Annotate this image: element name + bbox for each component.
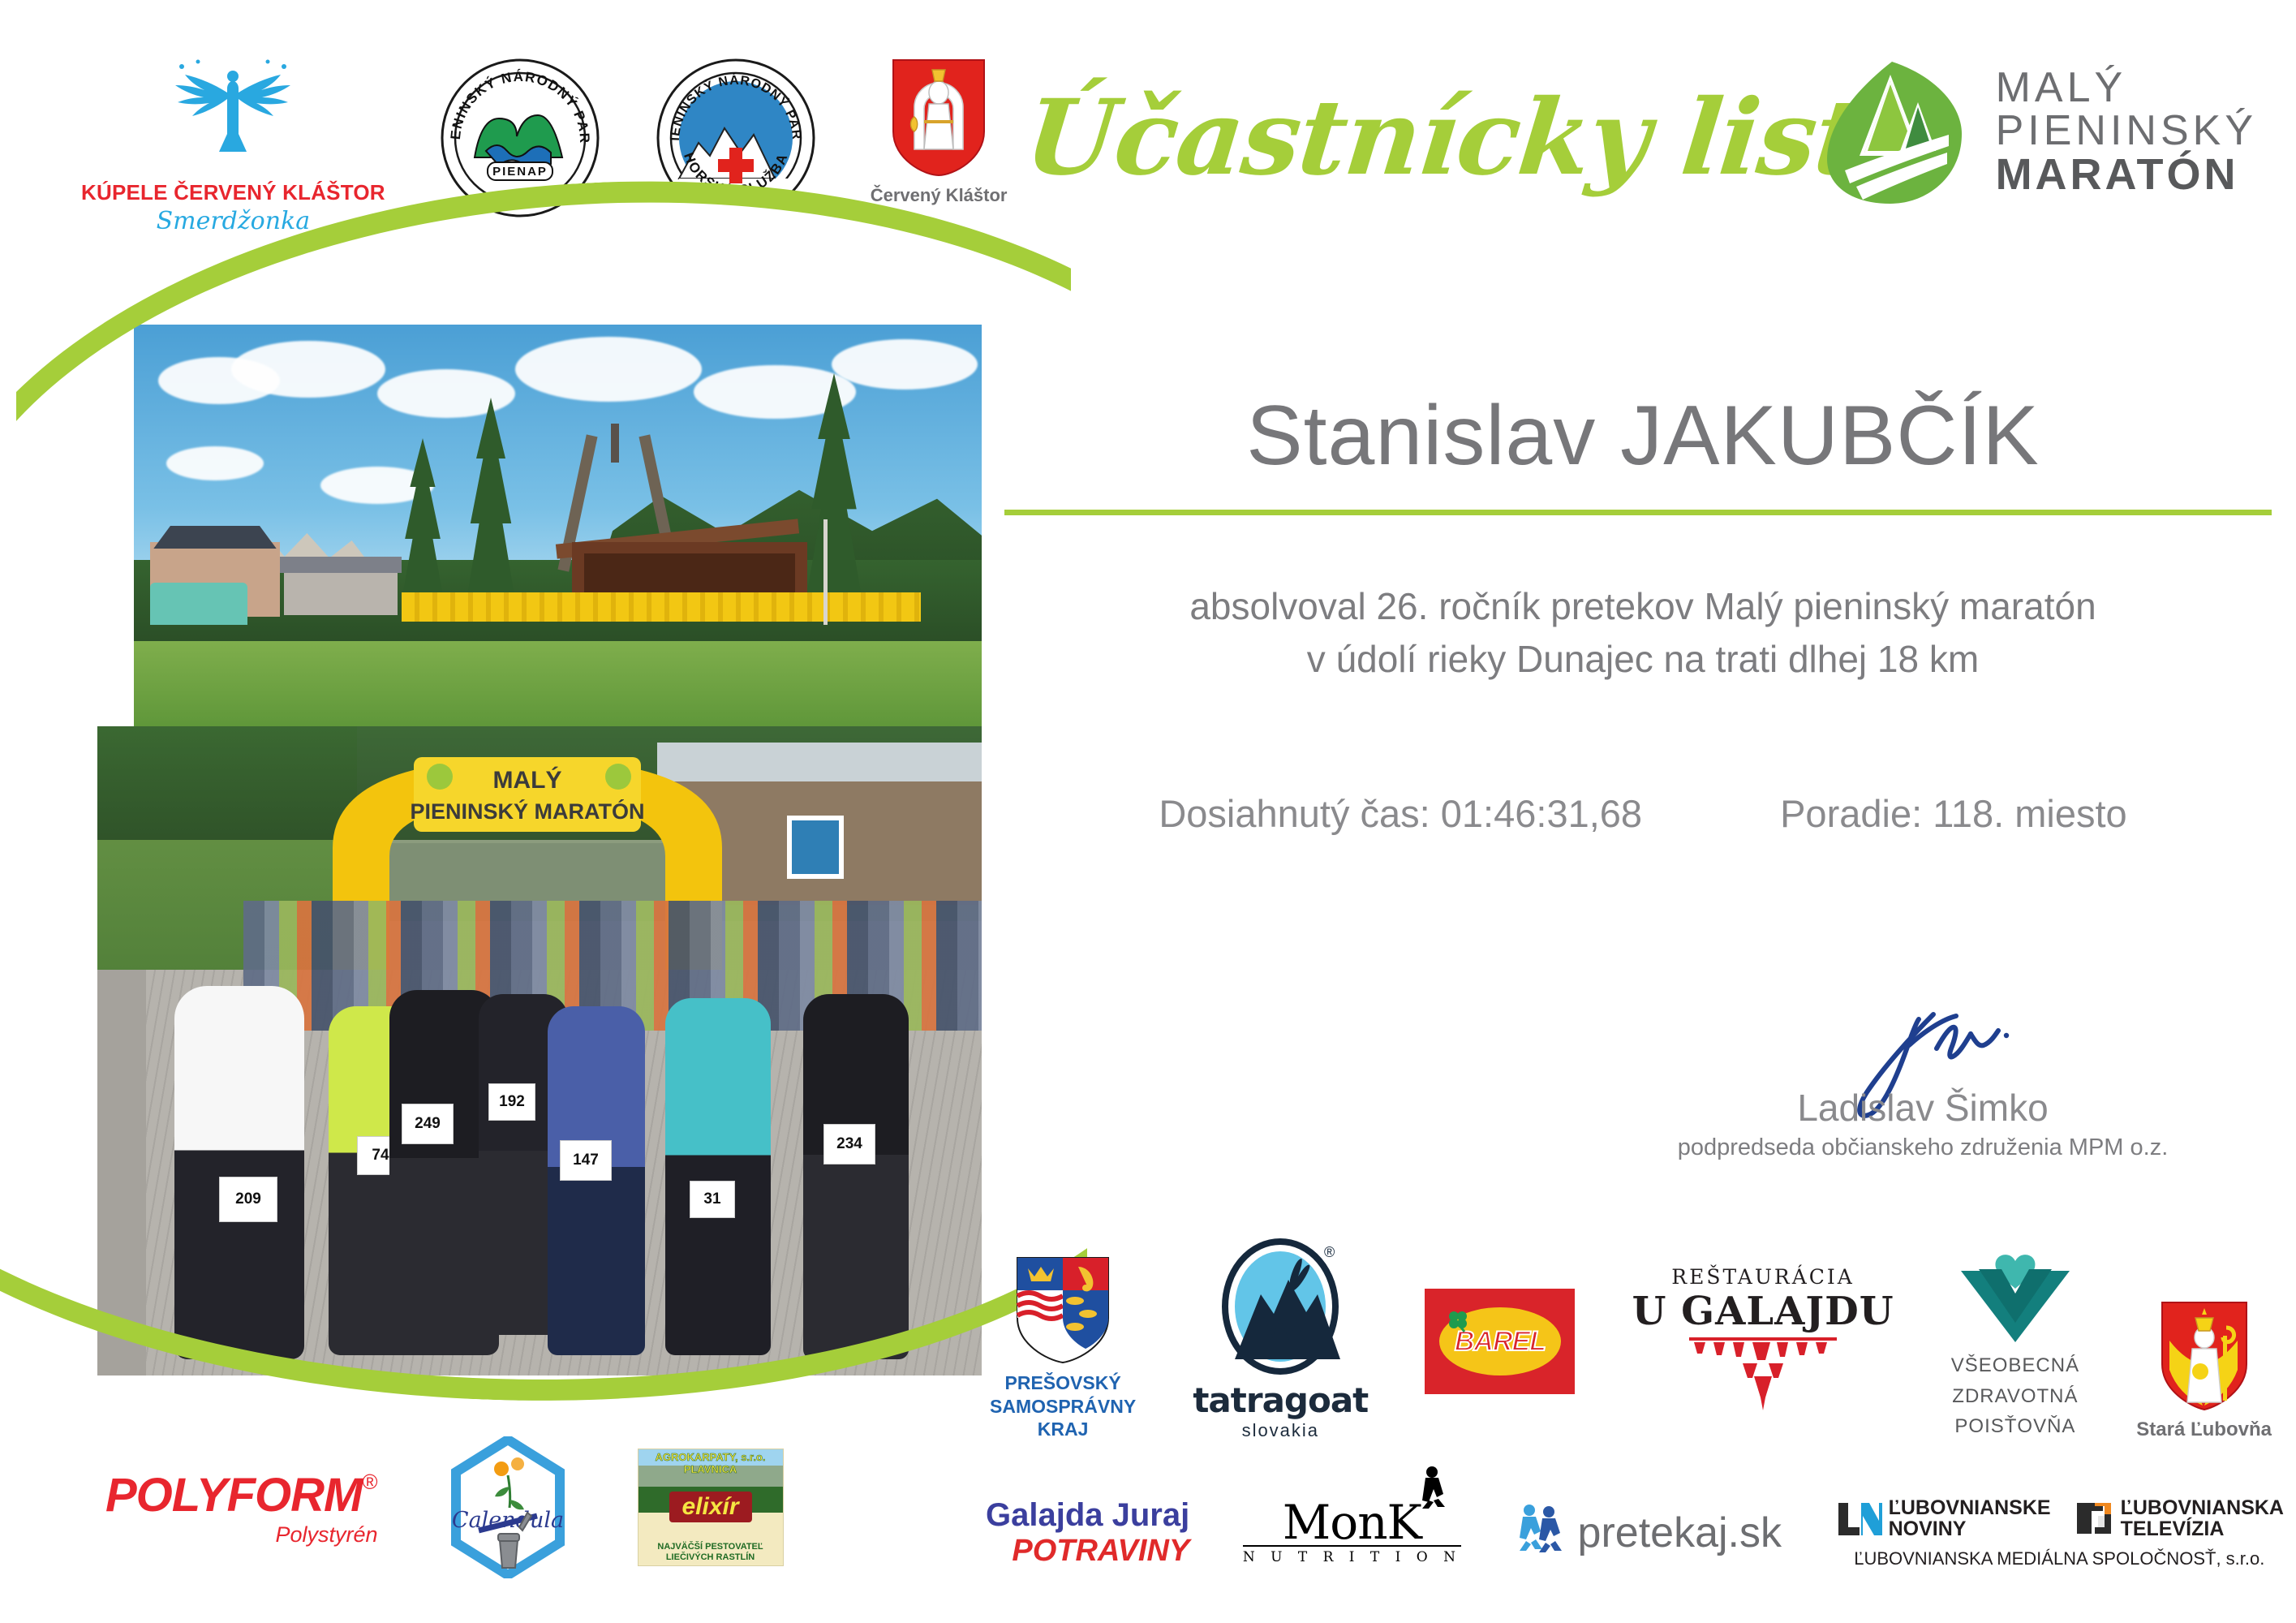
sponsor-agrokarpaty: AGROKARPATY, s.r.o. PLAVNICA elixír NAJV… — [638, 1449, 784, 1566]
brand-line-2: PIENINSKÝ — [1996, 110, 2257, 153]
sponsor-line-2: POTRAVINY — [986, 1534, 1189, 1569]
vzp-chevron-heart-icon — [1954, 1246, 2076, 1344]
sponsor-footer: NAJVÄČŠÍ PESTOVATEĽ LIEČIVÝCH RASTLÍN — [638, 1542, 783, 1563]
result-time: Dosiahnutý čas: 01:46:31,68 — [1159, 791, 1642, 836]
sponsor-label: Stará Ľubovňa — [2136, 1419, 2272, 1441]
tatragoat-oval-icon: ® — [1220, 1238, 1340, 1375]
signature-name: Ladislav Šimko — [1639, 1086, 2207, 1130]
psk-coat-of-arms-icon — [1015, 1255, 1111, 1365]
trademark-symbol: ® — [362, 1470, 377, 1495]
sponsor-top-label: REŠTAURÁCIA — [1671, 1265, 1855, 1289]
clover-icon — [1446, 1309, 1470, 1333]
sponsor-stara-lubovna: Stará Ľubovňa — [2136, 1300, 2272, 1441]
sponsor-sub: N U T R I T I O N — [1243, 1545, 1461, 1565]
running-monk-icon — [1408, 1465, 1456, 1509]
body-line-1: absolvoval 26. ročník pretekov Malý pien… — [1006, 580, 2280, 633]
barel-oval-icon: BAREL — [1425, 1289, 1575, 1394]
lt-logo-icon — [2074, 1500, 2114, 1537]
photo-panel: MALÝ PIENINSKÝ MARATÓN 209 74 249 192 14… — [49, 158, 982, 1375]
sponsor-row-secondary: Galajda Juraj POTRAVINY MonK N U T R I T… — [986, 1497, 2284, 1569]
event-brand-logo: MALÝ PIENINSKÝ MARATÓN — [1821, 57, 2257, 207]
ln-logo-icon — [1835, 1500, 1882, 1537]
sponsor-word: POLYFORM — [105, 1468, 362, 1522]
sponsor-line-1: Galajda Juraj — [986, 1497, 1189, 1534]
folk-ornament-icon — [1686, 1334, 1840, 1412]
sponsor-monk-nutrition: MonK N U T R I T I O N — [1243, 1500, 1461, 1565]
sponsor-title: AGROKARPATY, s.r.o. PLAVNICA — [638, 1451, 783, 1475]
decorative-swoosh-top — [16, 158, 1071, 499]
svg-text:PIENINSKÝ MARATÓN: PIENINSKÝ MARATÓN — [410, 799, 644, 824]
brand-line-1: MALÝ — [1996, 67, 2257, 110]
body-line-2: v údolí rieky Dunajec na trati dlhej 18 … — [1006, 633, 2280, 686]
leaf-mountain-logo-icon — [1821, 57, 1968, 207]
signature-role: podpredseda občianskeho združenia MPM o.… — [1639, 1134, 2207, 1161]
sponsor-tatragoat: ® tatragoat slovakia — [1193, 1238, 1368, 1441]
svg-text:MALÝ: MALÝ — [493, 766, 562, 794]
sponsor-row-primary: PREŠOVSKÝ SAMOSPRÁVNY KRAJ ® tatragoat s… — [990, 1238, 2272, 1441]
sponsor-sub: Polystyrén — [105, 1522, 378, 1548]
page-title: Účastnícky list — [1020, 77, 1868, 199]
result-row: Dosiahnutý čas: 01:46:31,68 Poradie: 118… — [1006, 791, 2280, 836]
result-place: Poradie: 118. miesto — [1780, 791, 2127, 836]
sponsor-sub: slovakia — [1242, 1420, 1319, 1441]
sponsor-calendula: Calendula — [451, 1436, 565, 1578]
sponsor-word: MonK — [1283, 1500, 1421, 1545]
sponsor-pretekaj-sk: pretekaj.sk — [1515, 1502, 1782, 1564]
sponsor-word: U GALAJDU — [1632, 1289, 1894, 1334]
certificate-page: KÚPELE ČERVENÝ KLÁŠTOR Smerdžonka PIENIN… — [0, 0, 2296, 1623]
agrokarpaty-label-icon: AGROKARPATY, s.r.o. PLAVNICA elixír NAJV… — [638, 1449, 784, 1566]
accent-divider — [1004, 510, 2272, 515]
decorative-swoosh-bottom — [0, 1116, 1087, 1408]
sponsor-label: ĽUBOVNIANSKE NOVINY — [1889, 1497, 2051, 1540]
brand-line-3: MARATÓN — [1996, 153, 2257, 197]
participant-name: Stanislav JAKUBČÍK — [1006, 388, 2280, 484]
sponsor-galajda-juraj: Galajda Juraj POTRAVINY — [986, 1497, 1189, 1569]
sponsor-word: tatragoat — [1193, 1380, 1368, 1420]
sponsor-word: pretekaj.sk — [1578, 1509, 1782, 1557]
sponsor-label: ĽUBOVNIANSKA TELEVÍZIA — [2121, 1497, 2284, 1540]
sponsor-word: elixír — [669, 1492, 752, 1522]
sponsor-label: PREŠOVSKÝ SAMOSPRÁVNY KRAJ — [990, 1371, 1136, 1441]
bishop-coat-of-arms-icon — [2160, 1300, 2249, 1412]
sponsor-presovsky-samospravny-kraj: PREŠOVSKÝ SAMOSPRÁVNY KRAJ — [990, 1255, 1136, 1441]
calendula-hex-icon: Calendula — [451, 1436, 565, 1578]
sponsor-vzp: VŠEOBECNÁ ZDRAVOTNÁ POISŤOVŇA — [1951, 1246, 2079, 1441]
lubovnianske-noviny: ĽUBOVNIANSKE NOVINY — [1835, 1497, 2051, 1540]
two-runners-icon — [1515, 1502, 1567, 1564]
trademark-symbol: ® — [1324, 1244, 1335, 1260]
sponsor-lubovnianska-medialna: ĽUBOVNIANSKE NOVINY ĽUBOVNIANSKA TELEVÍZ… — [1835, 1497, 2284, 1569]
sponsor-u-galajdu: REŠTAURÁCIA U GALAJDU — [1632, 1265, 1894, 1412]
signature-block: Ladislav Šimko podpredseda občianskeho z… — [1639, 998, 2207, 1161]
lubovnianska-televizia: ĽUBOVNIANSKA TELEVÍZIA — [2074, 1497, 2284, 1540]
sponsor-footer: ĽUBOVNIANSKA MEDIÁLNA SPOLOČNOSŤ, s.r.o. — [1854, 1548, 2264, 1569]
sponsor-row-bottom-left: POLYFORM ® Polystyrén Calendula — [105, 1436, 784, 1578]
certificate-body: absolvoval 26. ročník pretekov Malý pien… — [1006, 580, 2280, 687]
sponsor-label: VŠEOBECNÁ ZDRAVOTNÁ POISŤOVŇA — [1951, 1350, 2079, 1441]
sponsor-polyform: POLYFORM ® Polystyrén — [105, 1468, 378, 1548]
sponsor-barel: BAREL — [1425, 1289, 1575, 1394]
